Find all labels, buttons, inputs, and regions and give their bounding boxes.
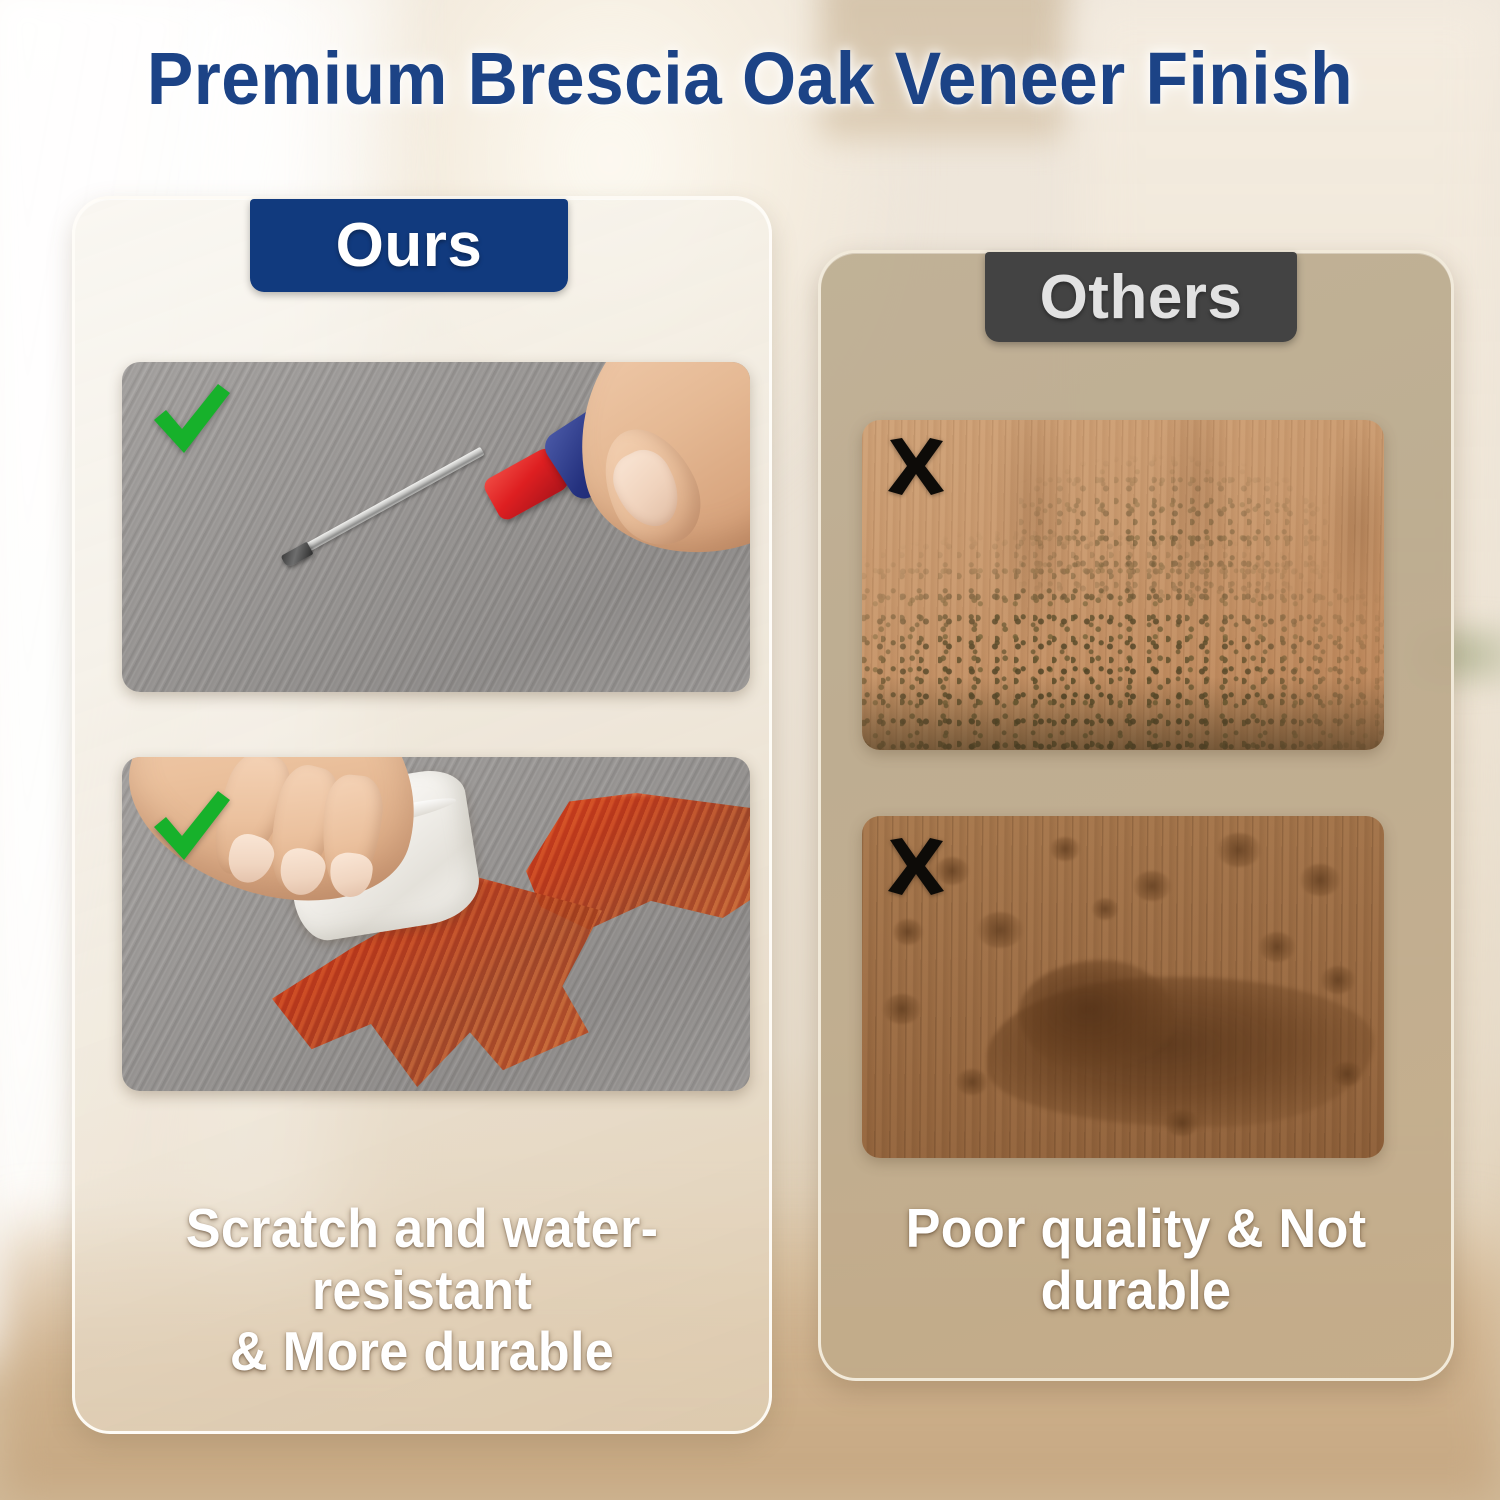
x-mark-icon: [886, 438, 946, 496]
badge-ours-label: Ours: [336, 210, 483, 281]
stain-speck: [1165, 1110, 1199, 1136]
x-mark-icon: [886, 838, 946, 896]
caption-ours: Scratch and water-resistant & More durab…: [112, 1198, 731, 1383]
caption-ours-line2: & More durable: [112, 1321, 731, 1383]
caption-others: Poor quality & Not durable: [847, 1198, 1425, 1321]
caption-ours-line1: Scratch and water-resistant: [112, 1198, 731, 1321]
stain-speck: [893, 919, 923, 945]
infographic-stage: Premium Brescia Oak Veneer Finish Ours: [0, 0, 1500, 1500]
caption-others-line1: Poor quality & Not durable: [847, 1198, 1425, 1321]
mold-growth-upper: [1019, 446, 1332, 598]
badge-ours: Ours: [250, 199, 568, 292]
stain-speck: [883, 994, 921, 1024]
stain-speck: [1092, 898, 1118, 920]
stain-speck: [1050, 837, 1080, 861]
stain-speck: [1133, 871, 1171, 901]
stain-speck: [956, 1069, 988, 1095]
water-stain-medium: [1019, 960, 1176, 1069]
photo-others-stained-wood: [862, 816, 1384, 1158]
stain-speck: [1217, 833, 1261, 867]
check-mark-icon: [148, 380, 234, 458]
page-title: Premium Brescia Oak Veneer Finish: [45, 38, 1455, 120]
badge-others: Others: [985, 252, 1297, 342]
photo-ours-water-test: [122, 757, 750, 1091]
check-mark-icon: [148, 787, 234, 865]
stain-speck: [1332, 1062, 1362, 1086]
photo-others-moldy-wood: [862, 420, 1384, 750]
stain-speck: [1259, 932, 1295, 962]
stain-speck: [977, 912, 1023, 948]
mold-dark-band: [862, 677, 1384, 750]
badge-others-label: Others: [1040, 262, 1243, 333]
photo-ours-scratch-test: [122, 362, 750, 692]
